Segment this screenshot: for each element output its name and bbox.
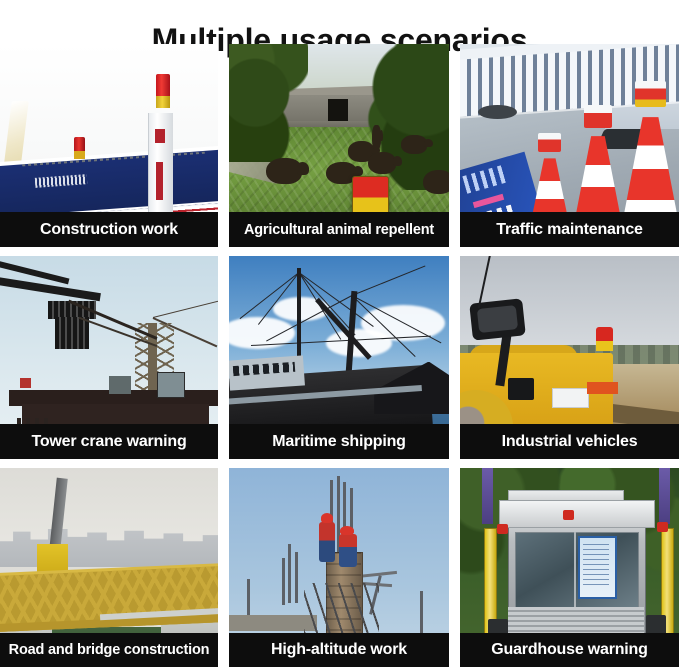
scenario-grid: Construction work Agricultural animal re… (0, 44, 679, 661)
scenario-card-road-and-bridge-construction[interactable]: Road and bridge construction (0, 468, 218, 667)
scenario-card-guardhouse-warning[interactable]: Guardhouse warning (460, 468, 679, 667)
beacon-light-icon (657, 522, 668, 532)
scenario-card-construction-work[interactable]: Construction work (0, 44, 218, 247)
worker-figure (339, 534, 357, 568)
scenario-caption-tower-crane-warning: Tower crane warning (0, 424, 218, 459)
scenario-card-high-altitude-work[interactable]: High-altitude work (229, 468, 449, 667)
worker-figure (319, 522, 334, 562)
beacon-light-icon (596, 327, 614, 351)
scenario-caption-road-and-bridge-construction: Road and bridge construction (0, 633, 218, 667)
scenario-caption-traffic-maintenance: Traffic maintenance (460, 212, 679, 247)
scenario-caption-guardhouse-warning: Guardhouse warning (460, 633, 679, 667)
scenario-caption-maritime-shipping: Maritime shipping (229, 424, 449, 459)
alarm-device-icon (352, 176, 389, 217)
scenario-card-agricultural-animal-repellent[interactable]: Agricultural animal repellent (229, 44, 449, 247)
scenario-caption-high-altitude-work: High-altitude work (229, 633, 449, 667)
beacon-light-icon (563, 510, 574, 520)
beacon-light-icon (497, 524, 508, 534)
beacon-light-icon (156, 74, 170, 96)
scenario-card-tower-crane-warning[interactable]: Tower crane warning (0, 256, 218, 459)
scenario-card-maritime-shipping[interactable]: Maritime shipping (229, 256, 449, 459)
scenario-caption-industrial-vehicles: Industrial vehicles (460, 424, 679, 459)
scenario-card-traffic-maintenance[interactable]: Traffic maintenance (460, 44, 679, 247)
scenario-caption-construction-work: Construction work (0, 212, 218, 247)
scenario-caption-agricultural-animal-repellent: Agricultural animal repellent (229, 212, 449, 247)
scenario-card-industrial-vehicles[interactable]: Industrial vehicles (460, 256, 679, 459)
